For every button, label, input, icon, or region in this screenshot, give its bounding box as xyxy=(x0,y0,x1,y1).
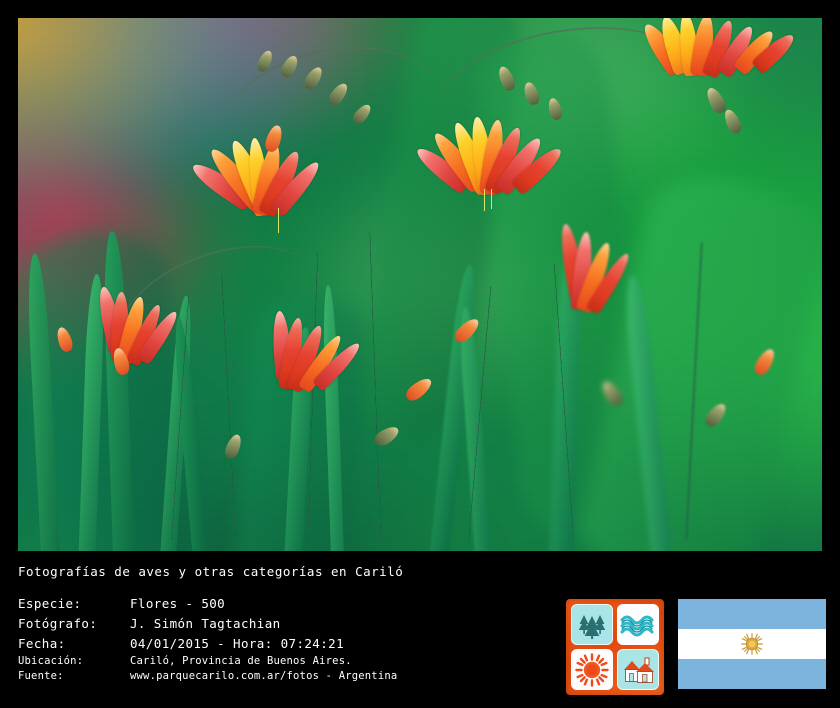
page-title: Fotografías de aves y otras categorías e… xyxy=(18,563,558,581)
crocosmia-flowers-photo xyxy=(18,18,822,551)
carilo-category-icons xyxy=(566,599,664,695)
badge-row xyxy=(566,599,826,695)
pine-trees-icon[interactable] xyxy=(571,604,613,645)
metadata-label-fecha: Fecha: xyxy=(18,634,130,654)
metadata-row-fuente: Fuente: www.parquecarilo.com.ar/fotos - … xyxy=(18,669,397,684)
caption-block: Fotografías de aves y otras categorías e… xyxy=(18,563,558,684)
photo-page: Fotografías de aves y otras categorías e… xyxy=(0,0,840,708)
flag-band-top xyxy=(678,599,826,629)
metadata-label-fotografo: Fotógrafo: xyxy=(18,614,130,634)
metadata-row-fotografo: Fotógrafo: J. Simón Tagtachian xyxy=(18,614,397,634)
metadata-label-ubicacion: Ubicación: xyxy=(18,654,130,669)
argentina-flag xyxy=(678,599,826,689)
flower-cluster xyxy=(267,300,476,428)
metadata-value-especie: Flores - 500 xyxy=(130,594,397,614)
flag-band-bottom xyxy=(678,659,826,689)
flower-cluster xyxy=(629,18,822,103)
metadata-value-fotografo: J. Simón Tagtachian xyxy=(130,614,397,634)
metadata-value-ubicacion: Cariló, Provincia de Buenos Aires. xyxy=(130,654,397,669)
metadata-row-ubicacion: Ubicación: Cariló, Provincia de Buenos A… xyxy=(18,654,397,669)
sun-of-may-icon xyxy=(740,632,764,656)
metadata-label-fuente: Fuente: xyxy=(18,669,130,684)
sun-icon[interactable] xyxy=(571,649,613,690)
metadata-row-especie: Especie: Flores - 500 xyxy=(18,594,397,614)
waves-icon[interactable] xyxy=(617,604,659,645)
metadata-row-fecha: Fecha: 04/01/2015 - Hora: 07:24:21 xyxy=(18,634,397,654)
metadata-label-especie: Especie: xyxy=(18,594,130,614)
flower-cluster xyxy=(179,125,420,264)
metadata-value-fuente[interactable]: www.parquecarilo.com.ar/fotos - Argentin… xyxy=(130,669,397,684)
metadata-value-fecha: 04/01/2015 - Hora: 07:24:21 xyxy=(130,634,397,654)
flower-cluster xyxy=(549,210,758,349)
house-icon[interactable] xyxy=(617,649,659,690)
photo-frame xyxy=(18,18,822,551)
metadata-table: Especie: Flores - 500 Fotógrafo: J. Simó… xyxy=(18,594,397,684)
